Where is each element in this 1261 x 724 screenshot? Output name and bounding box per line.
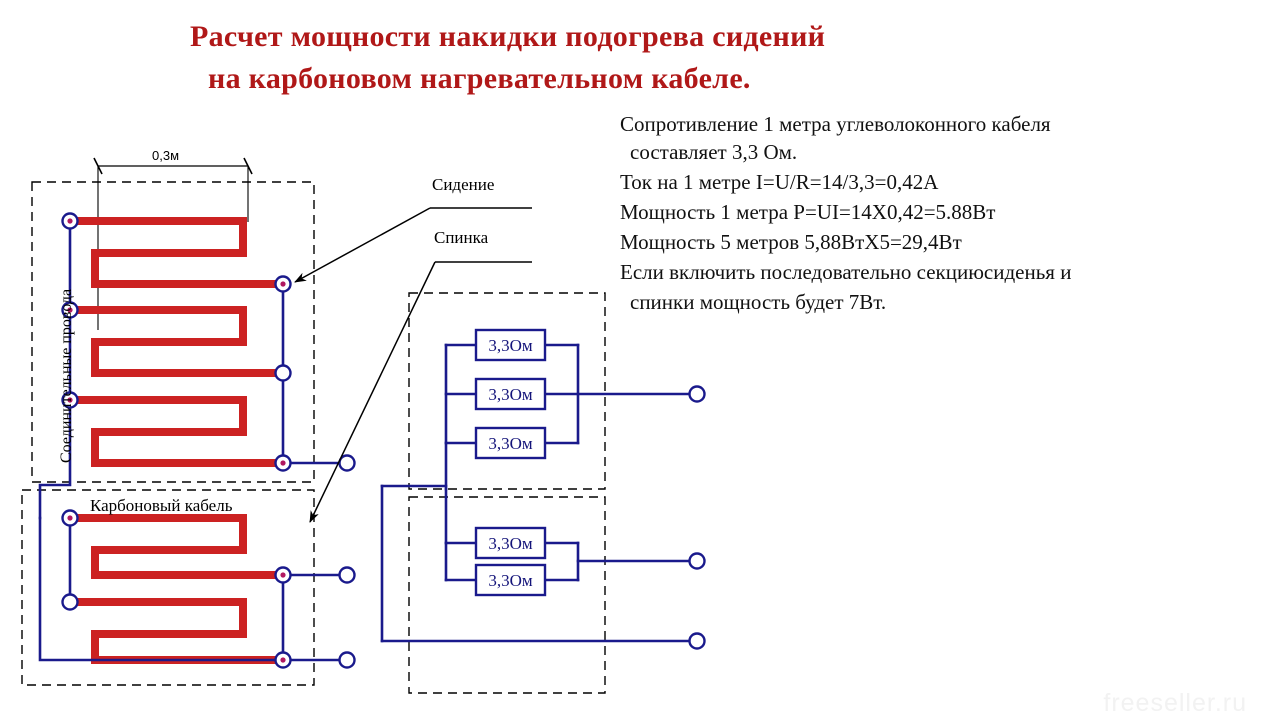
carbon-cable-label: Карбоновый кабель <box>90 496 232 516</box>
diagram-page: Расчет мощности накидки подогрева сидени… <box>0 0 1261 724</box>
dimension-0.3m <box>94 158 252 330</box>
connecting-wires-label: Соединительные провода <box>58 289 76 463</box>
dimension-label: 0,3м <box>152 148 179 163</box>
resistor-label-1: 3,3Ом <box>476 336 545 356</box>
back-label: Спинка <box>434 228 488 248</box>
diagram-canvas <box>0 0 1261 724</box>
schematic-terminals <box>690 387 705 649</box>
leader-line-seat <box>295 208 532 282</box>
resistor-label-3: 3,3Ом <box>476 434 545 454</box>
resistor-label-5: 3,3Ом <box>476 571 545 591</box>
resistor-label-4: 3,3Ом <box>476 534 545 554</box>
carbon-cable-back <box>70 221 283 463</box>
resistor-label-2: 3,3Ом <box>476 385 545 405</box>
seat-label: Сидение <box>432 175 494 195</box>
watermark: freeseller.ru <box>1103 689 1247 718</box>
carbon-cable-seat <box>70 518 283 660</box>
